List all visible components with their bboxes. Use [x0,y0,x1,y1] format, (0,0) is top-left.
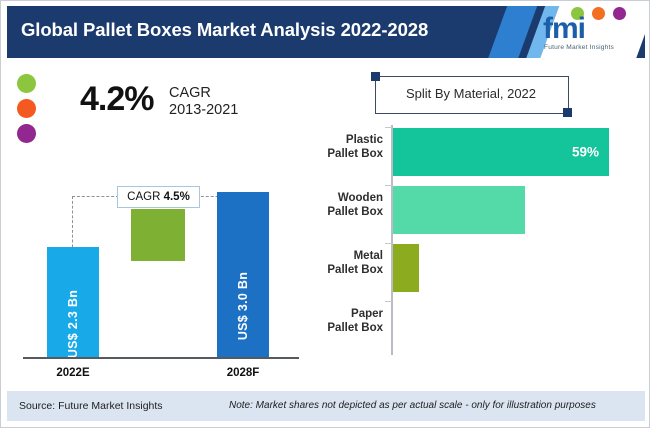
logo-wordmark: fmi [543,14,585,44]
x-tick-label-2022e: 2022E [38,367,108,379]
footer-source-text: Source: Future Market Insights [19,400,163,412]
category-label-paper: Paper Pallet Box [311,307,383,335]
cagr-annotation-prefix: CAGR [127,191,163,203]
cagr-annotation-value: 4.5% [164,191,190,203]
category-label-plastic-line2: Pallet Box [327,148,383,160]
bar-plastic-value-label: 59% [572,145,599,160]
cagr-value: 4.2% [80,80,154,119]
material-row-wooden: Wooden Pallet Box [311,183,643,240]
category-label-plastic-line1: Plastic [346,134,383,146]
category-label-wooden-line1: Wooden [338,192,383,204]
bar-2028f: US$ 3.0 Bn [217,192,269,357]
cagr-caption-label: CAGR [169,85,211,101]
bar-2022e-value-label: US$ 2.3 Bn [66,290,80,358]
category-label-wooden: Wooden Pallet Box [311,191,383,219]
footer-note-text: Note: Market shares not depicted as per … [229,400,596,411]
logo-tagline: Future Market Insights [544,44,614,51]
cagr-dot-purple-icon [17,124,36,143]
bar-2028f-value-label: US$ 3.0 Bn [236,272,250,340]
cagr-annotation-box: CAGR 4.5% [117,186,200,208]
bar-metal [393,244,419,292]
logo-dot-purple-icon [613,7,626,20]
cagr-bracket-top-left-line [72,196,119,198]
fmi-logo: fmi Future Market Insights [537,7,641,55]
split-by-material-chart: Split By Material, 2022 Plastic Pallet B… [311,71,643,371]
page-title: Global Pallet Boxes Market Analysis 2022… [21,19,428,41]
material-row-plastic: Plastic Pallet Box 59% [311,125,643,182]
category-label-metal: Metal Pallet Box [311,249,383,277]
x-axis-line [23,357,299,359]
footer-bar: Source: Future Market Insights Note: Mar… [7,391,645,421]
cagr-dot-green-icon [17,74,36,93]
split-title-text: Split By Material, 2022 [375,76,567,112]
cagr-caption-period: 2013-2021 [169,102,238,119]
logo-dot-orange-icon [592,7,605,20]
material-row-metal: Metal Pallet Box [311,241,643,298]
category-label-metal-line2: Pallet Box [327,264,383,276]
category-label-plastic: Plastic Pallet Box [311,133,383,161]
category-label-paper-line2: Pallet Box [327,322,383,334]
cagr-caption: CAGR 2013-2021 [169,85,238,119]
material-row-paper: Paper Pallet Box [311,299,643,356]
accent-square-icon [131,209,185,261]
x-tick-label-2028f: 2028F [208,367,278,379]
category-label-wooden-line2: Pallet Box [327,206,383,218]
market-size-bar-chart: CAGR 4.5% US$ 2.3 Bn US$ 3.0 Bn 2022E 20… [13,186,301,381]
cagr-dot-orange-icon [17,99,36,118]
bar-wooden [393,186,525,234]
bar-2022e: US$ 2.3 Bn [47,247,99,357]
infographic-root: Global Pallet Boxes Market Analysis 2022… [0,0,650,428]
cagr-dots-group [17,74,39,146]
bar-plastic: 59% [393,128,609,176]
category-label-paper-line1: Paper [351,308,383,320]
category-label-metal-line1: Metal [354,250,383,262]
